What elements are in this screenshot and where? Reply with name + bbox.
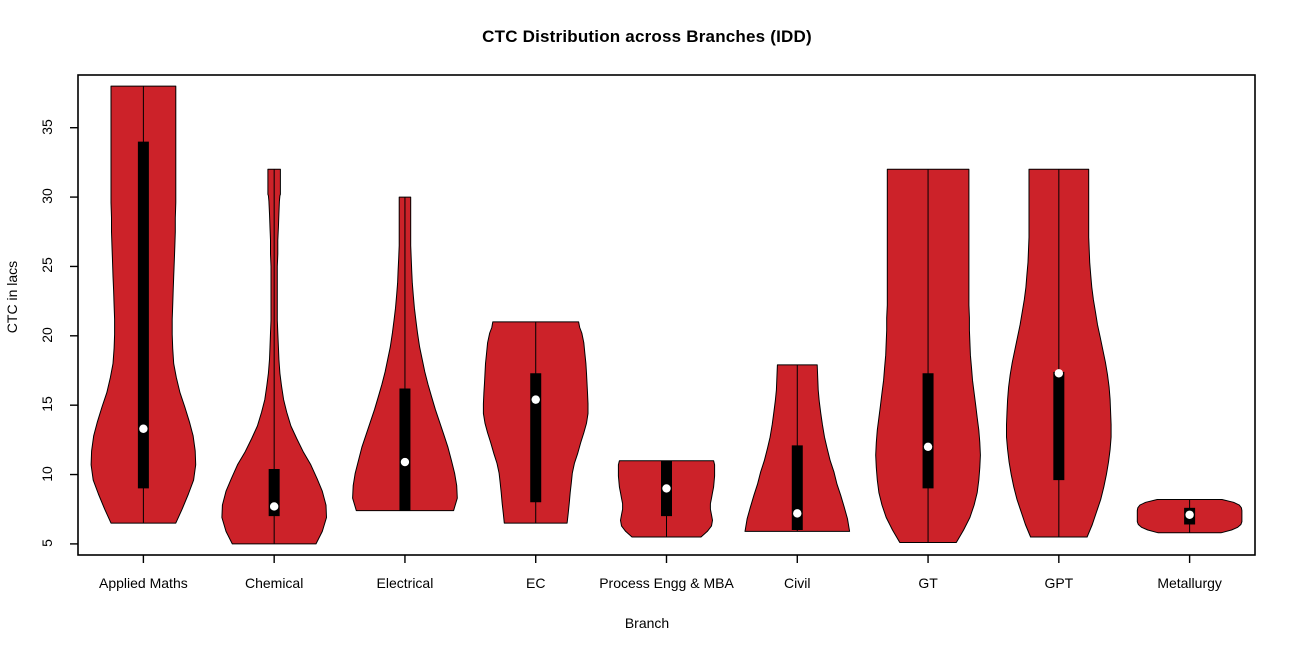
y-tick-label: 30 [39, 179, 55, 213]
median-point [270, 502, 278, 510]
violin-applied-maths [91, 86, 196, 523]
y-tick-label: 20 [39, 318, 55, 352]
median-point [139, 425, 147, 433]
median-point [532, 395, 540, 403]
violin-electrical [353, 197, 458, 511]
median-point [662, 484, 670, 492]
violin-civil [745, 365, 850, 532]
y-tick-label: 5 [39, 526, 55, 560]
violin-gt [876, 169, 981, 542]
y-tick-label: 25 [39, 248, 55, 282]
median-point [1185, 511, 1193, 519]
median-point [793, 509, 801, 517]
median-point [1055, 369, 1063, 377]
y-tick-label: 10 [39, 457, 55, 491]
x-tick-label-chemical: Chemical [245, 575, 303, 591]
y-tick-label: 15 [39, 387, 55, 421]
x-tick-label-civil: Civil [784, 575, 810, 591]
x-tick-label-gt: GT [918, 575, 937, 591]
x-tick-label-electrical: Electrical [377, 575, 434, 591]
x-tick-label-metallurgy: Metallurgy [1157, 575, 1222, 591]
violin-process-engg-mba [618, 461, 714, 537]
x-tick-label-applied-maths: Applied Maths [99, 575, 188, 591]
x-tick-label-gpt: GPT [1044, 575, 1073, 591]
violin-ec [483, 322, 588, 523]
median-point [401, 458, 409, 466]
x-tick-label-ec: EC [526, 575, 545, 591]
violin-metallurgy [1137, 500, 1242, 533]
x-tick-label-process-engg-mba: Process Engg & MBA [599, 575, 734, 591]
violin-chemical [222, 169, 327, 544]
violin-plot-figure: CTC Distribution across Branches (IDD) C… [0, 0, 1294, 653]
violin-gpt [1007, 169, 1112, 537]
violins-layer [91, 86, 1242, 544]
plot-canvas [0, 0, 1294, 653]
y-tick-label: 35 [39, 110, 55, 144]
median-point [924, 443, 932, 451]
